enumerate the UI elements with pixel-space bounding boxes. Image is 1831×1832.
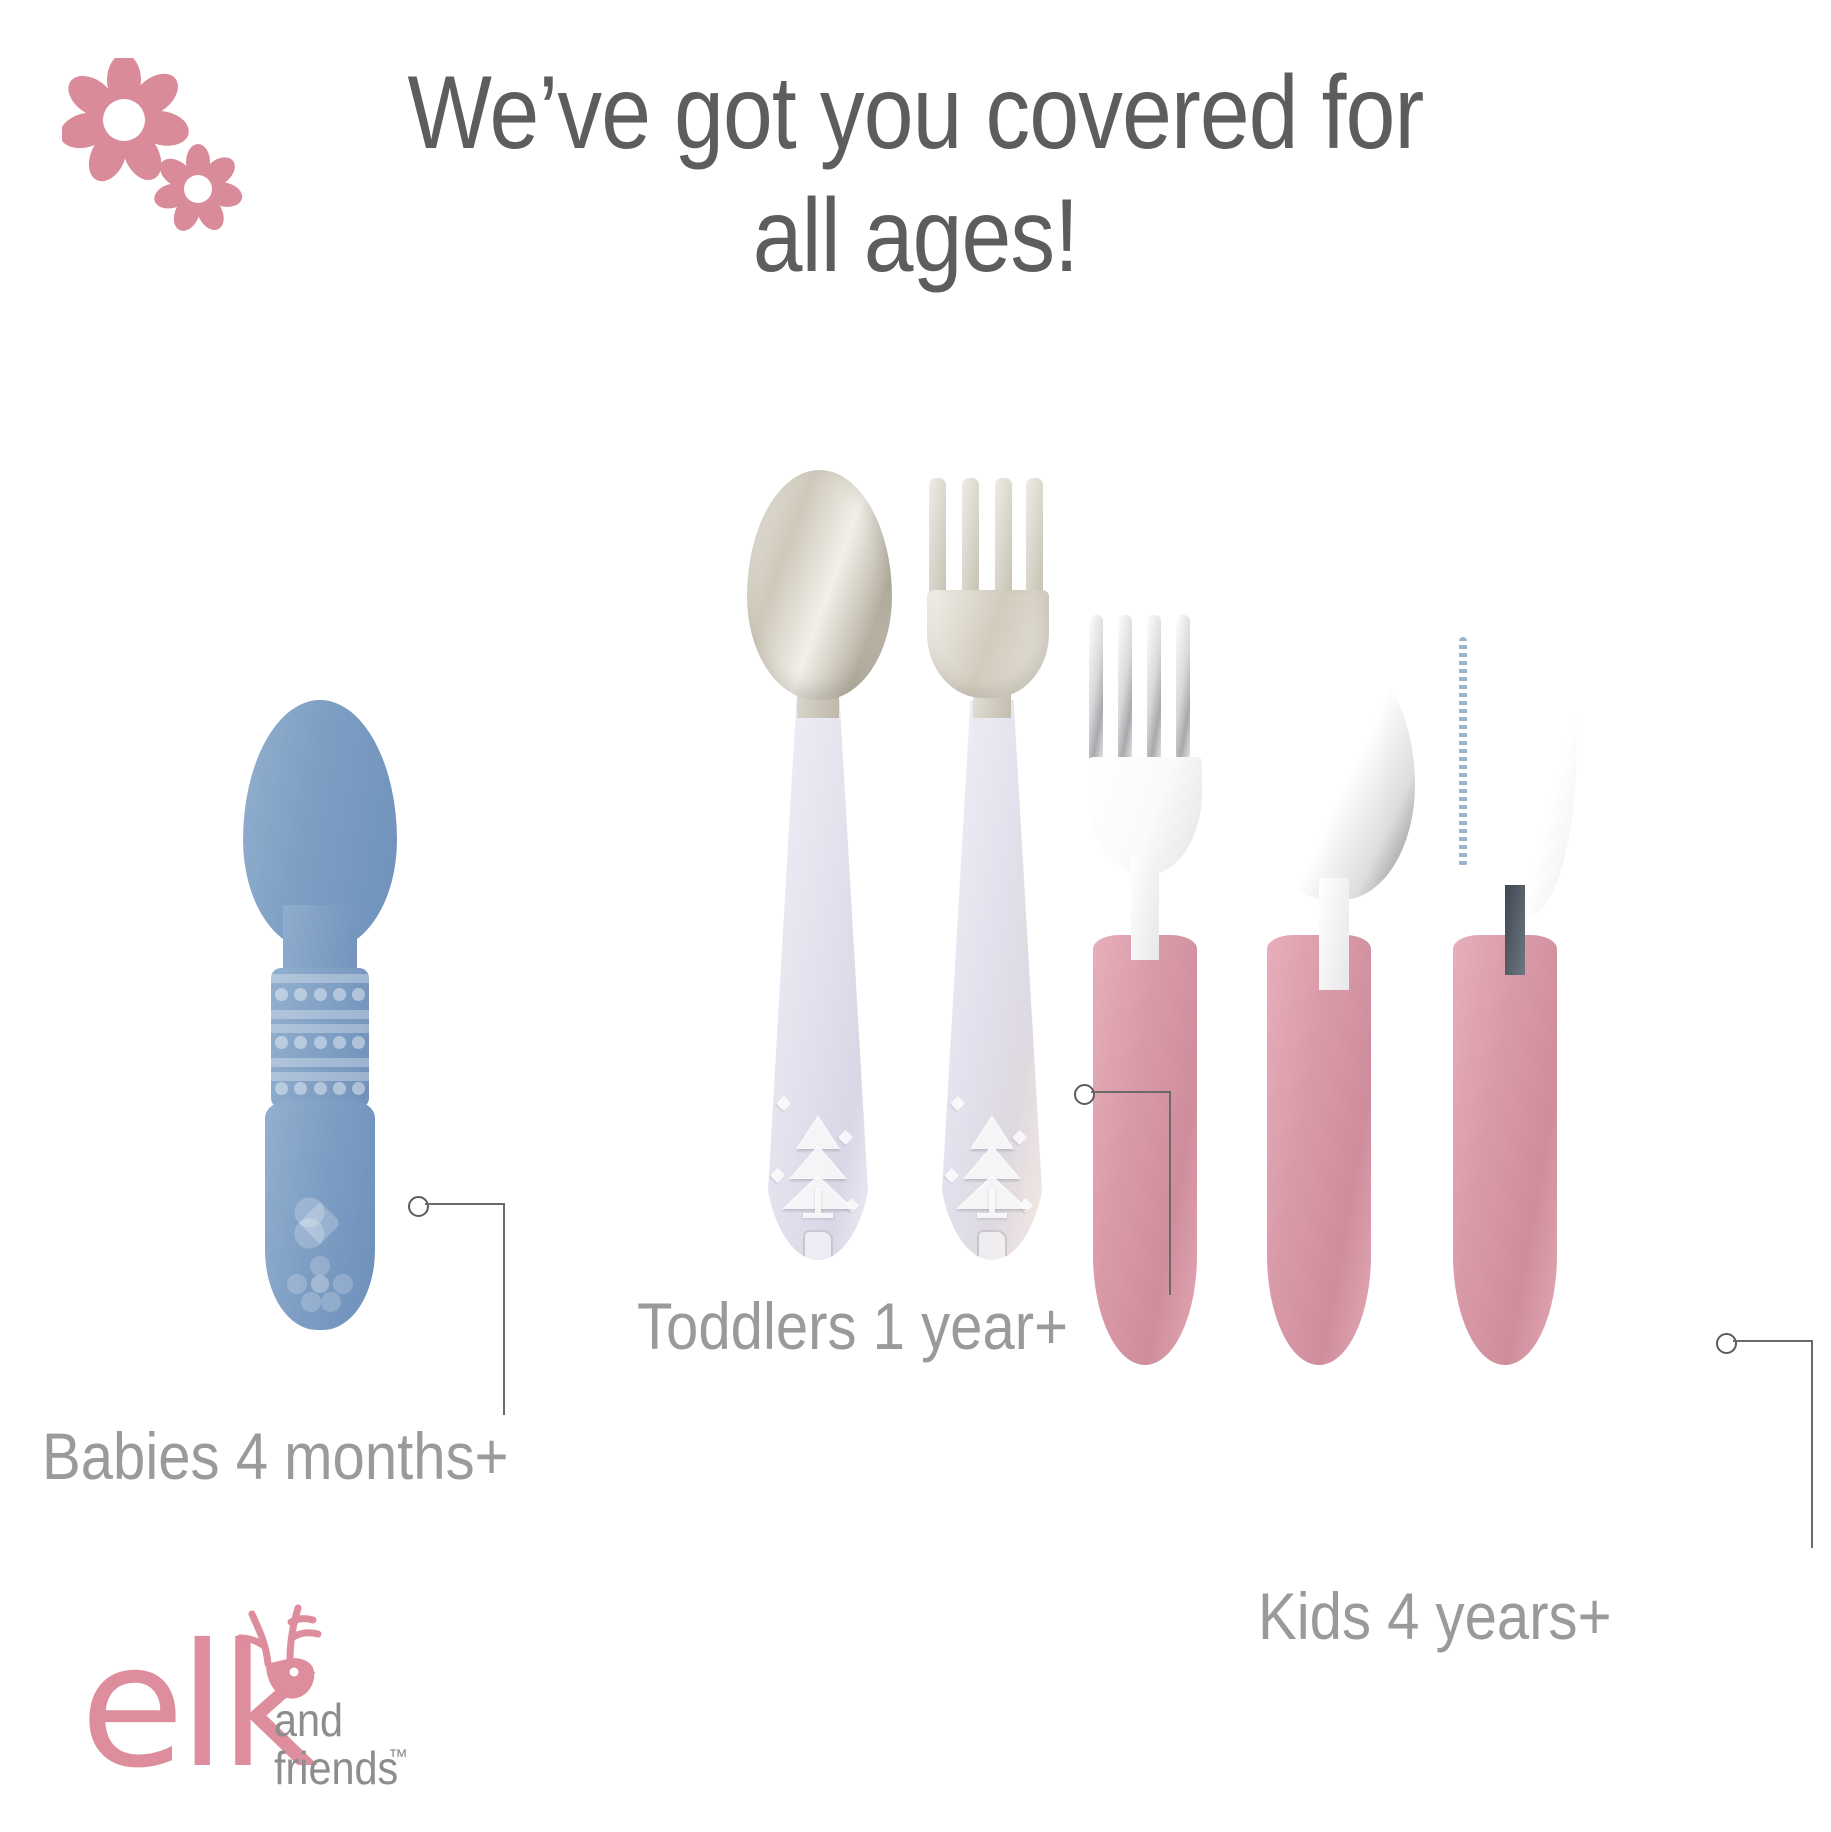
logo-trademark: ™ [388, 1746, 408, 1769]
leader-marker-icon [408, 1196, 429, 1217]
promo-canvas: We’ve got you covered for all ages! [0, 0, 1831, 1832]
heart-emboss-icon [299, 1202, 341, 1244]
squirrel-emboss-icon [977, 1230, 1007, 1260]
toddler-spoon-bowl [747, 470, 892, 700]
kids-spoon-handle [1267, 935, 1371, 1365]
product-toddlers-set [735, 470, 1125, 1270]
kids-spoon-head [1255, 650, 1415, 980]
pine-tree-emboss-icon [779, 1115, 857, 1230]
label-toddlers: Toddlers 1 year+ [637, 1288, 1068, 1364]
toddler-spoon-handle [764, 700, 872, 1260]
product-kids-set [1085, 615, 1705, 1375]
label-babies: Babies 4 months+ [42, 1418, 509, 1494]
kids-fork-head [1085, 615, 1205, 945]
pine-tree-emboss-icon [953, 1115, 1031, 1230]
kids-knife-head [1455, 605, 1585, 975]
squirrel-emboss-icon [803, 1230, 833, 1260]
kids-knife-handle [1453, 935, 1557, 1365]
label-kids: Kids 4 years+ [1258, 1578, 1612, 1654]
flower-emboss-icon [287, 1256, 353, 1312]
page-title: We’ve got you covered for all ages! [128, 52, 1703, 297]
kids-fork-handle [1093, 935, 1197, 1365]
product-babies-spoon [225, 700, 415, 1200]
spoon-handle [265, 1100, 375, 1330]
leader-marker-icon [1074, 1084, 1095, 1105]
brand-logo[interactable]: elk and friends ™ [78, 1608, 438, 1823]
serrated-edge [1459, 637, 1467, 867]
toddler-fork-handle [938, 700, 1046, 1260]
leader-marker-icon [1716, 1333, 1737, 1354]
spoon-grip-texture [271, 968, 369, 1108]
toddler-fork-head [923, 478, 1053, 700]
logo-tagline: and friends [274, 1696, 398, 1793]
